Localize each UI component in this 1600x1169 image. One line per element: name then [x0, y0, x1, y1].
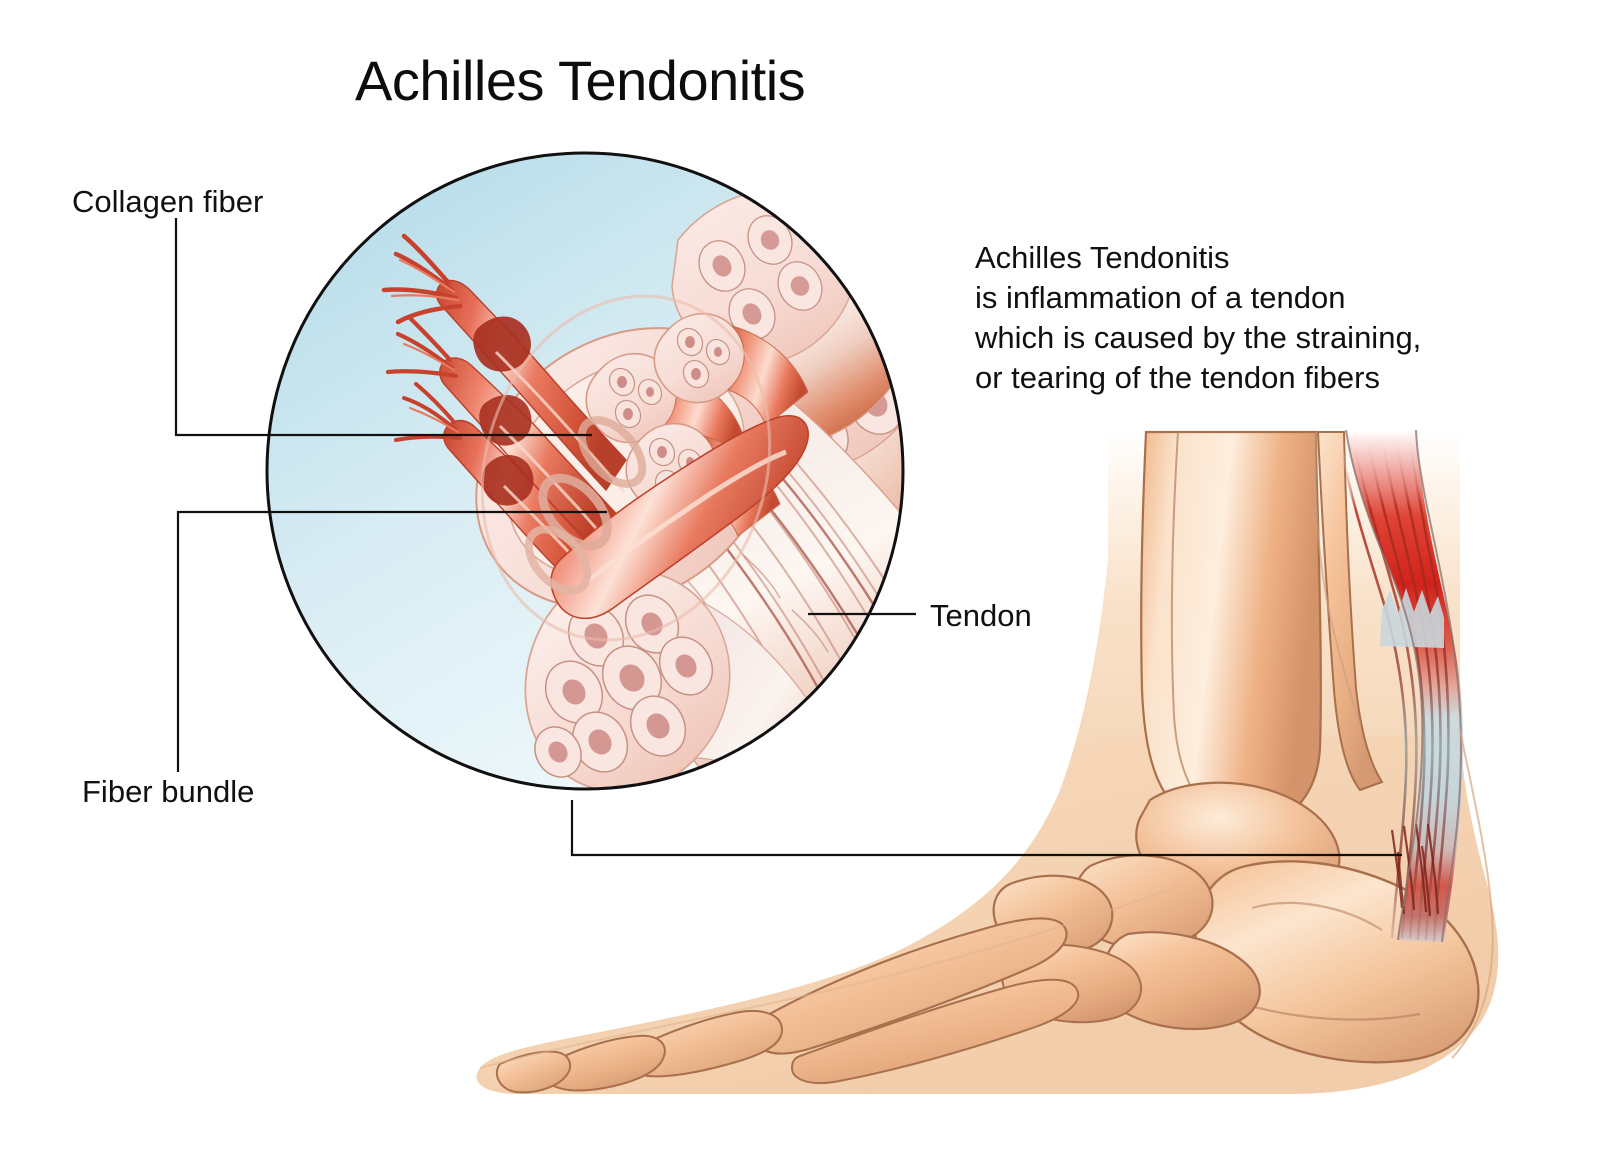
description-line-1: Achilles Tendonitis [975, 240, 1229, 275]
description-text-block: Achilles Tendonitis is inflammation of a… [974, 240, 1421, 395]
label-fiber-bundle: Fiber bundle [82, 774, 254, 809]
label-collagen-fiber: Collagen fiber [72, 184, 263, 219]
label-tendon: Tendon [930, 598, 1032, 633]
description-line-3: which is caused by the straining, [974, 320, 1421, 355]
medical-illustration-canvas: Achilles Tendonitis [0, 0, 1600, 1169]
description-line-4: or tearing of the tendon fibers [975, 360, 1380, 395]
tibia-bone [1141, 432, 1321, 828]
description-line-2: is inflammation of a tendon [975, 280, 1346, 315]
page-title: Achilles Tendonitis [355, 49, 805, 112]
achilles-tendonitis-illustration: Achilles Tendonitis [0, 0, 1600, 1169]
tendon-magnification-inset [267, 153, 1060, 960]
